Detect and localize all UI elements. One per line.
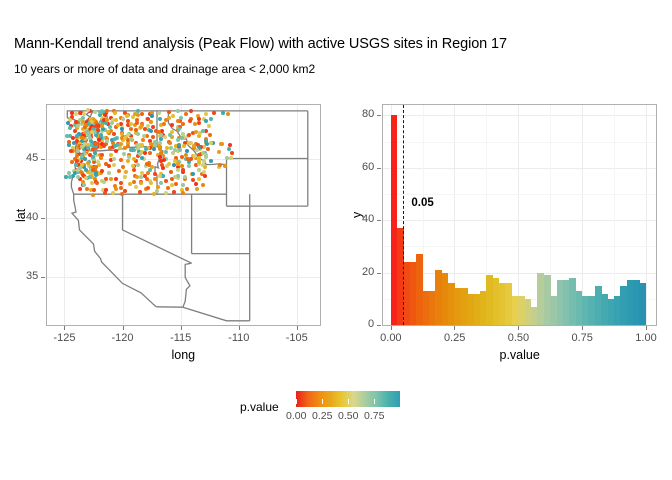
legend-tick-label: 0.25: [312, 410, 332, 422]
map-y-axis-title: lat: [14, 208, 28, 221]
map-x-tick-label: -125: [53, 332, 75, 344]
legend-tick-label: 0.00: [286, 410, 306, 422]
map-y-tick-label: 45: [26, 152, 38, 164]
page-title: Mann-Kendall trend analysis (Peak Flow) …: [14, 36, 507, 52]
threshold-line: [403, 105, 404, 325]
legend-tick: [322, 399, 323, 404]
histogram-y-tick-label: 60: [362, 161, 374, 173]
legend-tick: [348, 399, 349, 404]
plot-root: Mann-Kendall trend analysis (Peak Flow) …: [0, 0, 672, 480]
histogram-x-tick-label: 0.25: [444, 332, 465, 344]
legend-tick: [296, 399, 297, 404]
map-x-tick-label: -115: [170, 332, 191, 344]
histogram-y-axis-title: y: [350, 212, 364, 218]
histogram-x-axis-title: p.value: [500, 348, 540, 362]
map-y-tick-label: 35: [26, 270, 38, 282]
page-subtitle: 10 years or more of data and drainage ar…: [14, 62, 315, 76]
histogram-x-tick-label: 0.50: [508, 332, 529, 344]
histogram-x-tick-label: 0.75: [572, 332, 593, 344]
histogram-y-tick-label: 80: [362, 108, 374, 120]
histogram-panel[interactable]: 0.05: [382, 104, 657, 326]
colorbar-legend[interactable]: p.value 0.000.250.500.75: [240, 388, 440, 436]
histogram-x-tick-label: 1.00: [635, 332, 656, 344]
legend-title: p.value: [240, 400, 279, 414]
legend-tick-label: 0.75: [364, 410, 384, 422]
map-x-axis-title: long: [172, 348, 196, 362]
map-x-tick-label: -105: [286, 332, 308, 344]
histogram-x-tick-label: 0.00: [380, 332, 401, 344]
histogram-y-tick-label: 0: [368, 318, 374, 330]
map-x-tick-label: -120: [112, 332, 134, 344]
map-x-tick-label: -110: [228, 332, 249, 344]
map-panel[interactable]: [46, 104, 321, 326]
threshold-label: 0.05: [411, 197, 433, 209]
legend-tick: [374, 399, 375, 404]
legend-tick-label: 0.50: [338, 410, 358, 422]
histogram-bar: [639, 283, 646, 325]
histogram-y-tick-label: 20: [362, 266, 374, 278]
